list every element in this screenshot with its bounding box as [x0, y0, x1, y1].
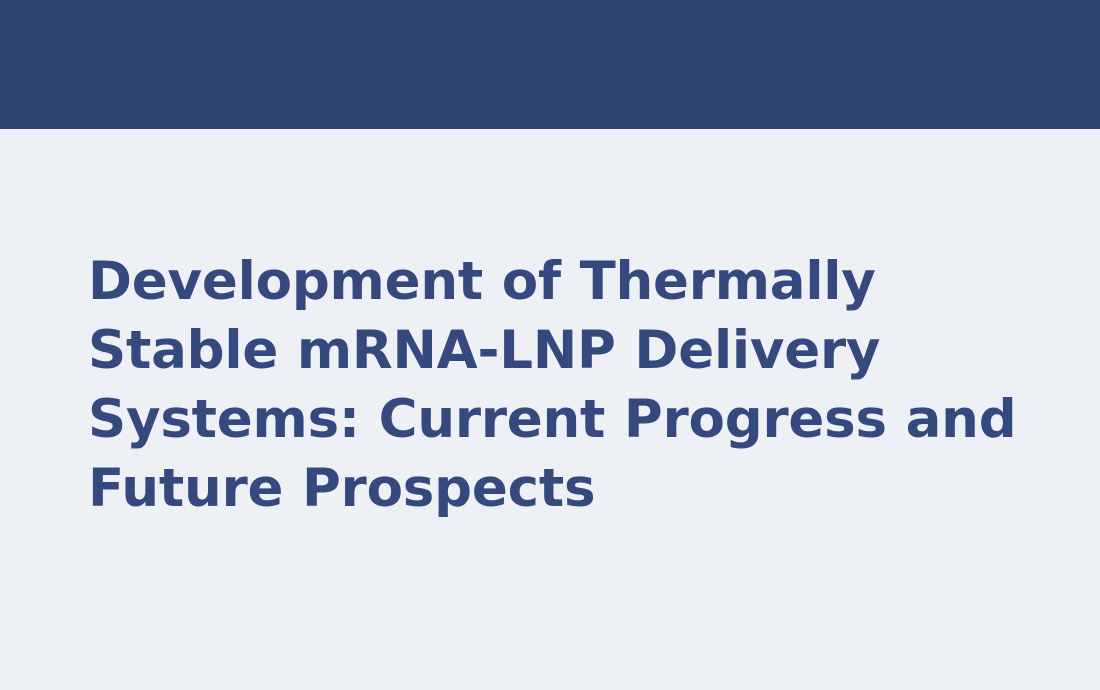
header-accent-band: [0, 0, 1100, 129]
document-page: Development of Thermally Stable mRNA-LNP…: [0, 0, 1100, 690]
body-content-region: [88, 470, 1060, 670]
